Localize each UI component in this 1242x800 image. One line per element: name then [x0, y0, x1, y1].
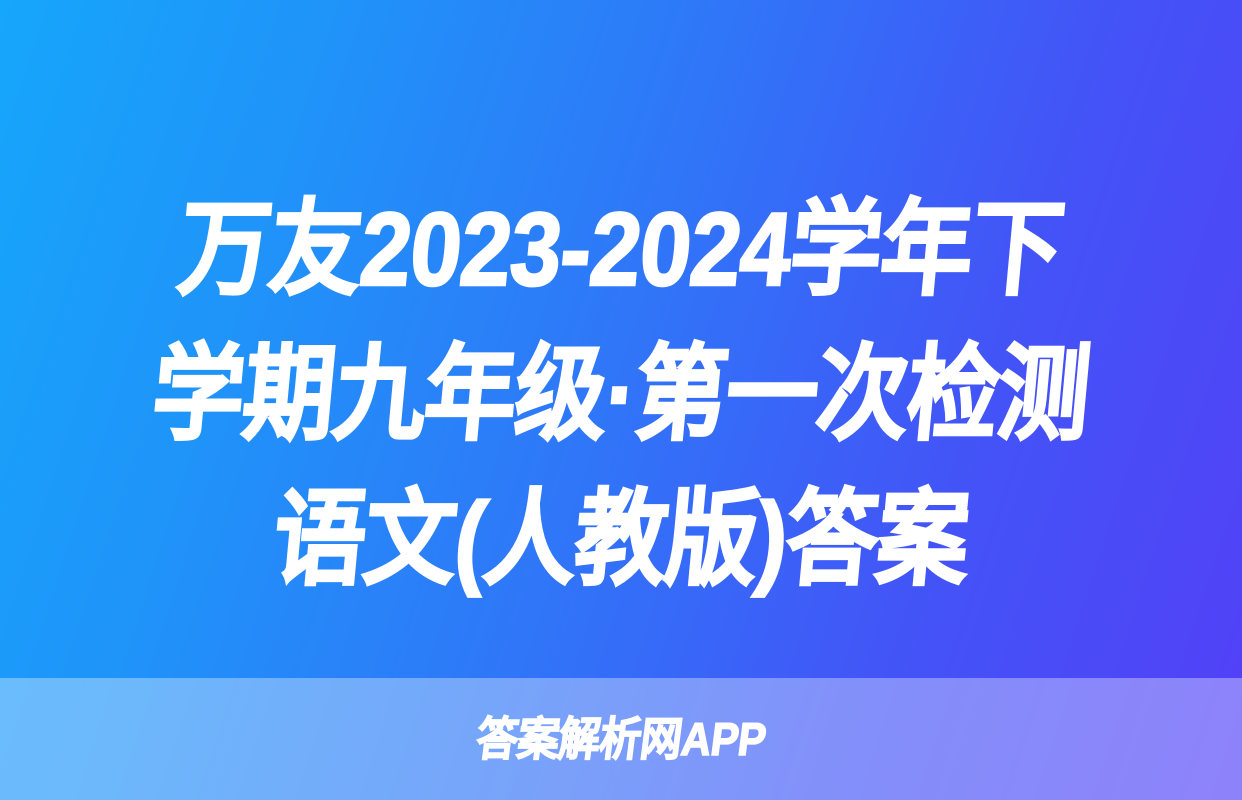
headline-block: 万友2023-2024学年下 学期九年级·第一次检测 语文(人教版)答案: [0, 178, 1242, 613]
app-watermark-label: 答案解析网APP: [473, 712, 768, 766]
poster-canvas: 万友2023-2024学年下 学期九年级·第一次检测 语文(人教版)答案 答案解…: [0, 0, 1242, 800]
headline-line-3: 语文(人教版)答案: [68, 468, 1174, 613]
headline-line-2: 学期九年级·第一次检测: [68, 323, 1174, 468]
footer-band: 答案解析网APP: [0, 678, 1242, 800]
headline-line-1: 万友2023-2024学年下: [68, 178, 1174, 323]
